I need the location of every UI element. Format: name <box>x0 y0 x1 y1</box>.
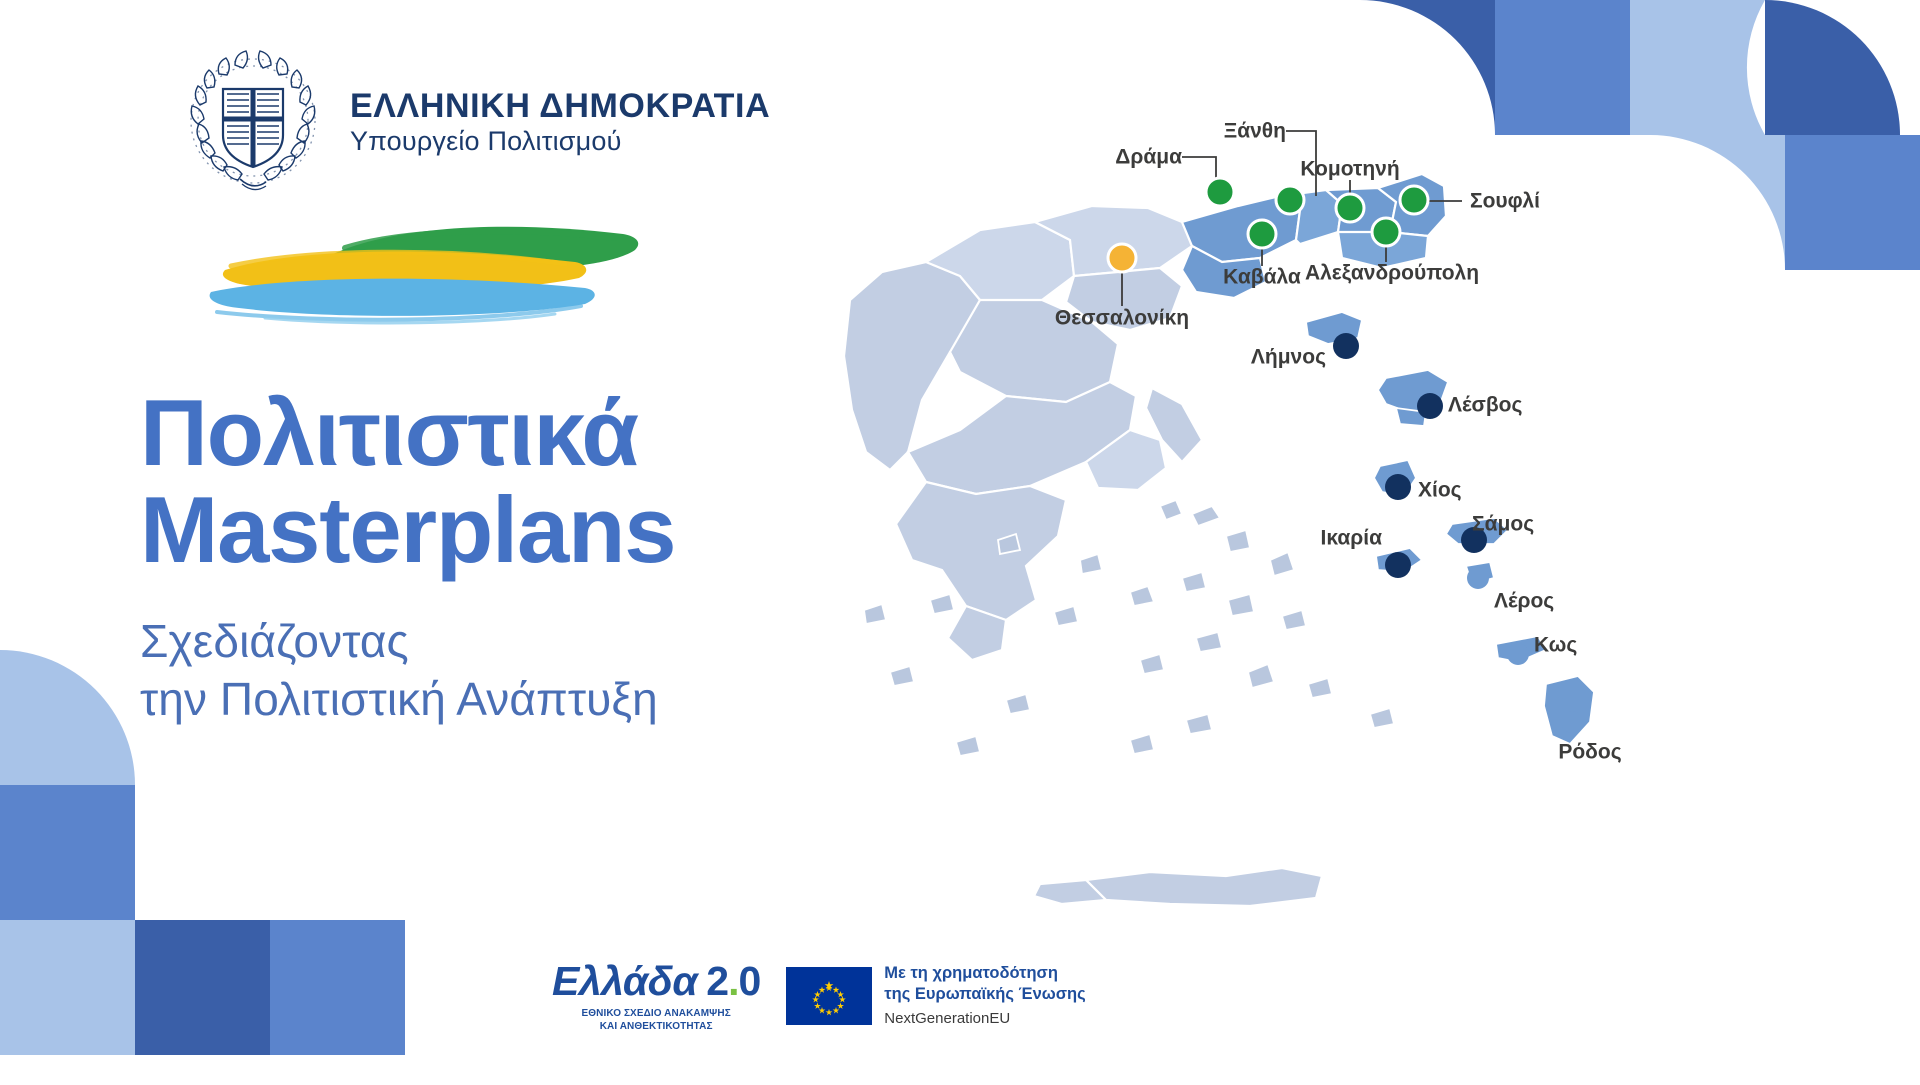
ministry-name-line2: Υπουργείο Πολιτισμού <box>350 127 770 157</box>
greece-2-0-zero: 0 <box>738 958 760 1004</box>
greece-2-0-word: Ελλάδα <box>552 958 697 1005</box>
greece-2-0-sub-line2: ΚΑΙ ΑΝΘΕΚΤΙΚΟΤΗΤΑΣ <box>581 1021 730 1034</box>
map-label-rodos: Ρόδος <box>1558 742 1621 763</box>
map-label-kavala: Καβάλα <box>1223 267 1301 288</box>
map-label-thessaloniki: Θεσσαλονίκη <box>1055 308 1189 329</box>
title-line-1: Πολιτιστικά <box>140 380 638 485</box>
greece-2-0-sub-line1: ΕΘΝΙΚΟ ΣΧΕΔΙΟ ΑΝΑΚΑΜΨΗΣ <box>581 1008 730 1021</box>
map-label-soufli: Σουφλί <box>1470 191 1540 212</box>
greece-map: .base { fill:#c2cee3; stroke:#ffffff; st… <box>830 0 1920 1080</box>
greek-coat-of-arms-icon <box>178 48 328 198</box>
greece-2-0-two: 2 <box>706 958 728 1004</box>
map-label-kos: Κως <box>1534 635 1577 656</box>
map-label-limnos: Λήμνος <box>1251 347 1326 368</box>
map-label-leros: Λέρος <box>1494 591 1554 612</box>
greece-2-0-dot: . <box>728 958 738 1004</box>
map-label-xanthi: Ξάνθη <box>1224 121 1286 142</box>
hero-text-block: Πολιτιστικά Masterplans Σχεδιάζοντας την… <box>140 385 900 729</box>
map-label-alexandroupoli: Αλεξανδρούπολη <box>1305 263 1479 284</box>
map-label-ikaria: Ικαρία <box>1321 528 1383 549</box>
map-label-samos: Σάμος <box>1472 514 1534 535</box>
map-label-chios: Χίος <box>1418 480 1462 501</box>
map-label-lesvos: Λέσβος <box>1448 395 1522 416</box>
map-label-drama: Δράμα <box>1115 147 1182 168</box>
ministry-name-line1: ΕΛΛΗΝΙΚΗ ΔΗΜΟΚΡΑΤΙΑ <box>350 89 770 125</box>
subtitle-line-2: την Πολιτιστική Ανάπτυξη <box>140 671 900 729</box>
page-title: Πολιτιστικά Masterplans <box>140 385 900 579</box>
title-line-2: Masterplans <box>140 482 900 579</box>
ministry-logo-block: ΕΛΛΗΝΙΚΗ ΔΗΜΟΚΡΑΤΙΑ Υπουργείο Πολιτισμού <box>178 48 770 198</box>
greek-flag-brushstroke-icon <box>205 218 675 328</box>
page-subtitle: Σχεδιάζοντας την Πολιτιστική Ανάπτυξη <box>140 613 900 729</box>
greece-2-0-logo: Ελλάδα 2.0 ΕΘΝΙΚΟ ΣΧΕΔΙΟ ΑΝΑΚΑΜΨΗΣ ΚΑΙ Α… <box>552 958 760 1033</box>
poster-canvas: ΕΛΛΗΝΙΚΗ ΔΗΜΟΚΡΑΤΙΑ Υπουργείο Πολιτισμού… <box>0 0 1920 1080</box>
subtitle-line-1: Σχεδιάζοντας <box>140 613 900 671</box>
map-label-komotini: Κομοτηνή <box>1300 159 1399 180</box>
